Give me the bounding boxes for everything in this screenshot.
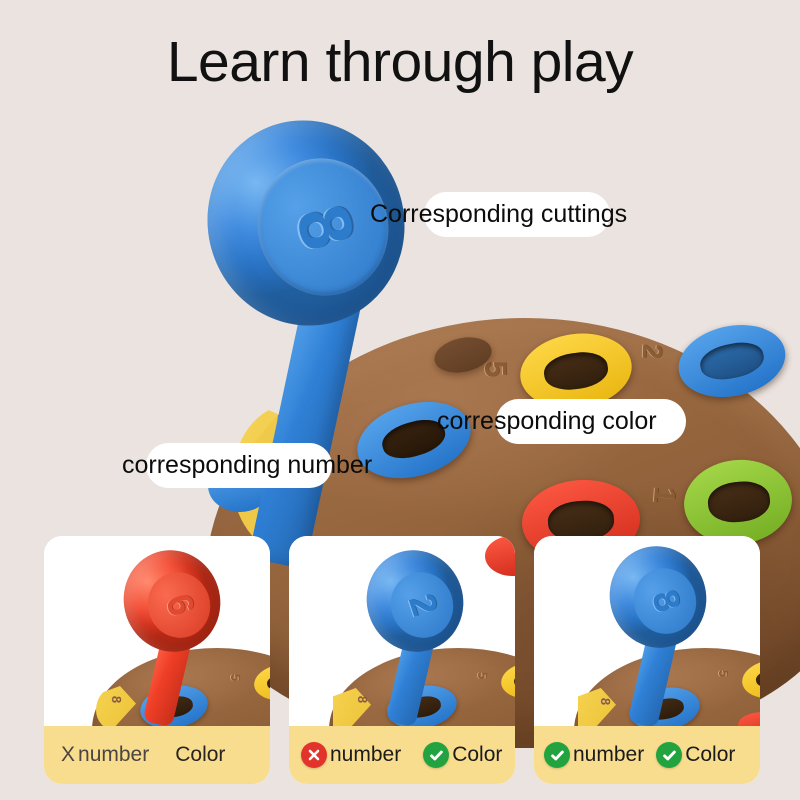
card-2-emb-number-2: 5 <box>475 672 490 680</box>
example-card-2: 8 5 2 number <box>289 536 515 784</box>
callout-cuttings-text: Corresponding cuttings <box>370 192 627 237</box>
example-card-3: 8 5 8 number <box>534 536 760 784</box>
card-2-caption-color: Color <box>423 742 502 768</box>
hole-number-1: 1 <box>646 485 681 505</box>
card-3-caption: number Color <box>534 726 760 784</box>
card-1-emb-number: 8 <box>109 696 124 704</box>
card-2-photo: 8 5 2 <box>289 536 515 726</box>
card-2-emb-number: 8 <box>355 696 370 704</box>
callout-color-text: corresponding color <box>437 399 657 444</box>
card-1-caption: X number Color <box>44 726 270 784</box>
card-2-color-label: Color <box>452 743 502 767</box>
x-circle-icon <box>301 742 327 768</box>
card-3-photo: 8 5 8 <box>534 536 760 726</box>
check-circle-icon <box>656 742 682 768</box>
card-3-caption-color: Color <box>656 742 735 768</box>
card-2-number-label: number <box>330 743 401 767</box>
card-3-caption-number: number <box>544 742 644 768</box>
infographic-canvas: Learn through play 5 2 1 <box>0 0 800 800</box>
card-1-color-label: Color <box>175 743 225 767</box>
check-circle-icon <box>423 742 449 768</box>
hole-number-2: 2 <box>636 343 668 359</box>
card-1-emb-number-2: 5 <box>228 674 243 682</box>
card-1-photo: 8 5 6 <box>44 536 270 726</box>
check-circle-icon <box>544 742 570 768</box>
card-1-number-label: number <box>78 743 149 767</box>
example-card-1: 8 5 6 X number Color <box>44 536 270 784</box>
card-2-caption: number Color <box>289 726 515 784</box>
card-2-caption-number: number <box>301 742 401 768</box>
card-3-color-label: Color <box>685 743 735 767</box>
card-2-red-hole-edge <box>485 536 515 576</box>
card-1-caption-color: Color <box>175 743 225 767</box>
card-1-caption-number: X number <box>61 743 149 767</box>
x-mark-icon: X <box>61 743 75 767</box>
callout-number-text: corresponding number <box>122 443 372 488</box>
card-3-emb-number-2: 5 <box>716 670 731 678</box>
card-3-emb-number: 8 <box>598 698 613 706</box>
card-3-number-label: number <box>573 743 644 767</box>
